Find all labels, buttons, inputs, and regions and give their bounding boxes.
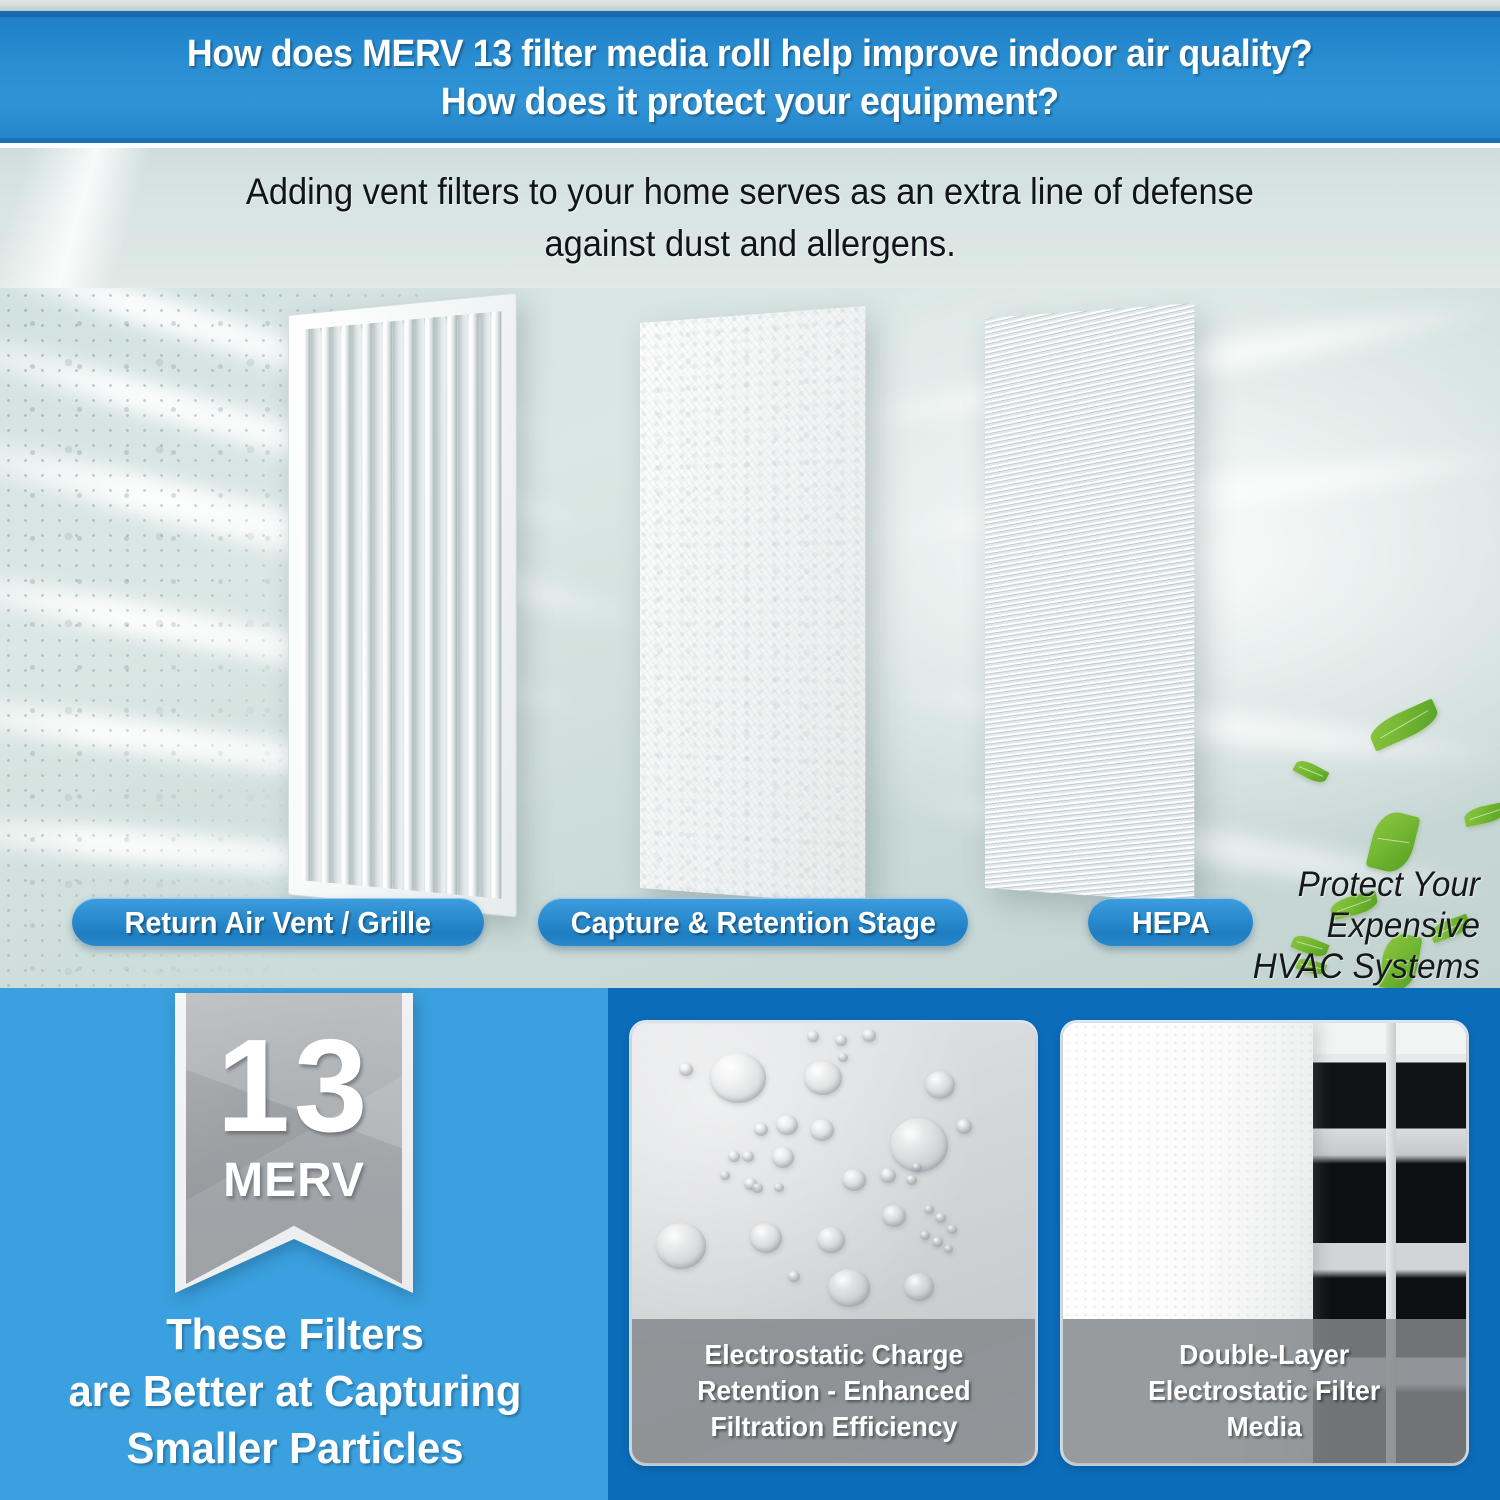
header-banner: How does MERV 13 filter media roll help … xyxy=(0,17,1500,143)
merv-tagline-line-2: are Better at Capturing xyxy=(15,1363,576,1420)
infographic-page: How does MERV 13 filter media roll help … xyxy=(0,0,1500,1500)
protect-hvac-note-line-2: Expensive xyxy=(1100,905,1480,946)
feature-card-caption-text: Electrostatic Charge Retention - Enhance… xyxy=(697,1337,970,1445)
merv-tagline: These Filters are Better at Capturing Sm… xyxy=(15,1306,576,1477)
merv-tagline-line-1: These Filters xyxy=(15,1306,576,1363)
protect-hvac-note: Protect Your Expensive HVAC Systems xyxy=(1100,864,1480,987)
header-title-line-1: How does MERV 13 filter media roll help … xyxy=(187,30,1312,78)
subtitle-line-1: Adding vent filters to your home serves … xyxy=(246,166,1254,218)
caption-line-2: Retention - Enhanced xyxy=(697,1375,970,1406)
return-air-vent-grille-illustration xyxy=(288,292,517,917)
feature-card-caption-text: Double-Layer Electrostatic Filter Media xyxy=(1148,1337,1380,1445)
merv-rating-label: MERV xyxy=(223,1155,365,1207)
leaf-icon xyxy=(1292,757,1329,786)
merv-rating-number: 13 xyxy=(217,1017,372,1155)
merv-ribbon-badge: 13 MERV xyxy=(175,993,413,1293)
feature-card-caption: Double-Layer Electrostatic Filter Media xyxy=(1063,1319,1466,1463)
feature-card-caption: Electrostatic Charge Retention - Enhance… xyxy=(632,1319,1035,1463)
leaf-icon xyxy=(1463,802,1500,827)
header-title-line-2: How does it protect your equipment? xyxy=(441,78,1059,126)
feature-cards-panel: Electrostatic Charge Retention - Enhance… xyxy=(608,988,1500,1500)
caption-line-3: Filtration Efficiency xyxy=(710,1411,957,1442)
leaf-icon xyxy=(1366,698,1442,751)
hero-diagram-section: Return Air Vent / Grille Capture & Reten… xyxy=(0,288,1500,988)
feature-card-electrostatic-charge: Electrostatic Charge Retention - Enhance… xyxy=(632,1023,1035,1463)
bottom-section: 13 MERV These Filters are Better at Capt… xyxy=(0,988,1500,1500)
caption-line-1: Electrostatic Charge xyxy=(704,1339,963,1370)
badge-capture-retention-label: Capture & Retention Stage xyxy=(570,907,935,938)
badge-capture-retention[interactable]: Capture & Retention Stage xyxy=(538,898,968,946)
caption-line-3: Media xyxy=(1227,1411,1302,1442)
badge-return-air-vent-label: Return Air Vent / Grille xyxy=(125,907,432,938)
caption-line-1: Double-Layer xyxy=(1180,1339,1350,1370)
hepa-pleated-panel xyxy=(985,303,1194,903)
feature-card-double-layer-media: Double-Layer Electrostatic Filter Media xyxy=(1063,1023,1466,1463)
merv-tagline-line-3: Smaller Particles xyxy=(15,1420,576,1477)
protect-hvac-note-line-3: HVAC Systems xyxy=(1100,946,1480,987)
subtitle-band: Adding vent filters to your home serves … xyxy=(0,148,1500,288)
badge-return-air-vent[interactable]: Return Air Vent / Grille xyxy=(72,898,484,946)
subtitle-line-2: against dust and allergens. xyxy=(544,218,955,270)
top-decorative-strip xyxy=(0,0,1500,11)
capture-retention-media-sheet xyxy=(640,306,865,905)
merv-panel: 13 MERV These Filters are Better at Capt… xyxy=(0,988,608,1500)
protect-hvac-note-line-1: Protect Your xyxy=(1100,864,1480,905)
caption-line-2: Electrostatic Filter xyxy=(1148,1375,1380,1406)
